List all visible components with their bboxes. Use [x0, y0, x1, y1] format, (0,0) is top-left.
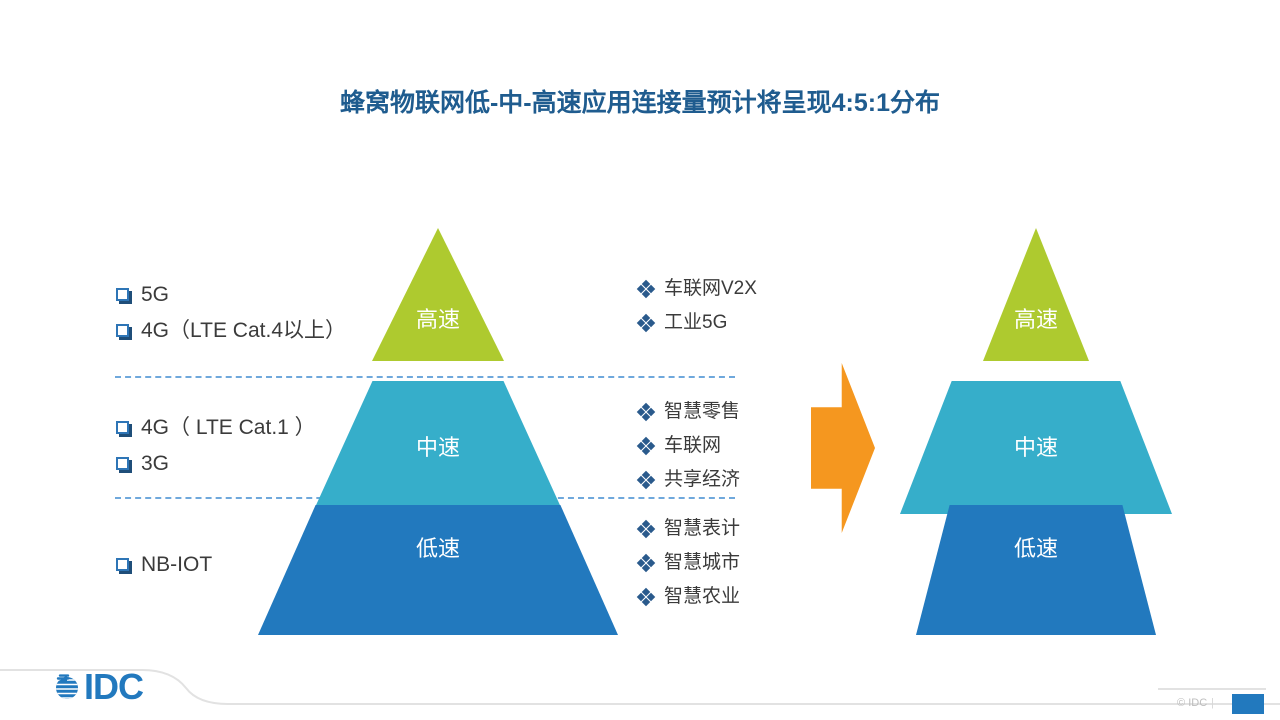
tier-label: 高速 — [416, 309, 460, 331]
diamond-bullet-icon — [638, 438, 654, 454]
pyramid-current: 高速 中速 低速 — [258, 228, 618, 613]
square-bullet-icon — [116, 324, 129, 337]
diamond-bullet-icon — [638, 315, 654, 331]
list-item[interactable]: 车联网 — [638, 429, 838, 463]
usecase-label: 智慧城市 — [664, 546, 740, 580]
copyright-divider: | — [1211, 697, 1214, 709]
usecase-label: 工业5G — [664, 306, 727, 340]
footer-divider — [0, 664, 1280, 720]
square-bullet-icon — [116, 558, 129, 571]
idc-wordmark: IDC — [84, 672, 143, 702]
diamond-bullet-icon — [638, 281, 654, 297]
copyright-text: © IDC — [1177, 697, 1207, 709]
slide-canvas: 蜂窝物联网低-中-高速应用连接量预计将呈现4:5:1分布 5G 4G（LTE C… — [0, 0, 1280, 720]
tier-label: 中速 — [1014, 437, 1058, 459]
arrow-shape — [811, 363, 875, 533]
list-item[interactable]: 工业5G — [638, 306, 838, 340]
usecase-label: 车联网V2X — [664, 272, 757, 306]
list-item[interactable]: 车联网V2X — [638, 272, 838, 306]
tech-label: NB-IOT — [141, 547, 212, 583]
usecase-label: 智慧表计 — [664, 512, 740, 546]
usecase-list-mid-speed: 智慧零售 车联网 共享经济 — [638, 395, 838, 497]
usecase-label: 车联网 — [664, 429, 721, 463]
usecase-label: 共享经济 — [664, 463, 740, 497]
globe-icon — [52, 672, 82, 702]
right-arrow-icon — [811, 363, 875, 533]
tier-label: 中速 — [416, 437, 460, 459]
list-item[interactable]: 智慧表计 — [638, 512, 838, 546]
pyramid-tier-low-speed[interactable]: 低速 — [258, 505, 618, 635]
tier-label: 高速 — [1014, 309, 1058, 331]
tier-label: 低速 — [416, 538, 460, 560]
page-title: 蜂窝物联网低-中-高速应用连接量预计将呈现4:5:1分布 — [0, 83, 1280, 119]
usecase-list-high-speed: 车联网V2X 工业5G — [638, 272, 838, 340]
usecase-label: 智慧零售 — [664, 395, 740, 429]
diamond-bullet-icon — [638, 472, 654, 488]
pyramid-projected: 高速 中速 低速 — [900, 228, 1172, 613]
square-bullet-icon — [116, 421, 129, 434]
copyright-notice: © IDC| — [1177, 697, 1218, 709]
diamond-bullet-icon — [638, 404, 654, 420]
usecase-list-low-speed: 智慧表计 智慧城市 智慧农业 — [638, 512, 838, 614]
list-item[interactable]: 智慧农业 — [638, 580, 838, 614]
idc-logo[interactable]: IDC — [52, 672, 143, 702]
diamond-bullet-icon — [638, 589, 654, 605]
usecase-label: 智慧农业 — [664, 580, 740, 614]
list-item[interactable]: 共享经济 — [638, 463, 838, 497]
pyramid-tier-mid-speed[interactable]: 中速 — [312, 381, 564, 514]
list-item[interactable]: 智慧城市 — [638, 546, 838, 580]
footer-corner-rule — [1158, 688, 1266, 690]
pyramid-tier-mid-speed[interactable]: 中速 — [900, 381, 1172, 514]
tech-label: 5G — [141, 277, 169, 313]
pyramid-tier-low-speed[interactable]: 低速 — [916, 505, 1156, 635]
pyramid-tier-high-speed[interactable]: 高速 — [372, 228, 504, 361]
square-bullet-icon — [116, 288, 129, 301]
pyramid-tier-high-speed[interactable]: 高速 — [983, 228, 1089, 361]
diamond-bullet-icon — [638, 555, 654, 571]
square-bullet-icon — [116, 457, 129, 470]
brand-color-swatch — [1232, 694, 1264, 714]
tier-label: 低速 — [1014, 538, 1058, 560]
tech-label: 3G — [141, 446, 169, 482]
list-item[interactable]: 智慧零售 — [638, 395, 838, 429]
diamond-bullet-icon — [638, 521, 654, 537]
